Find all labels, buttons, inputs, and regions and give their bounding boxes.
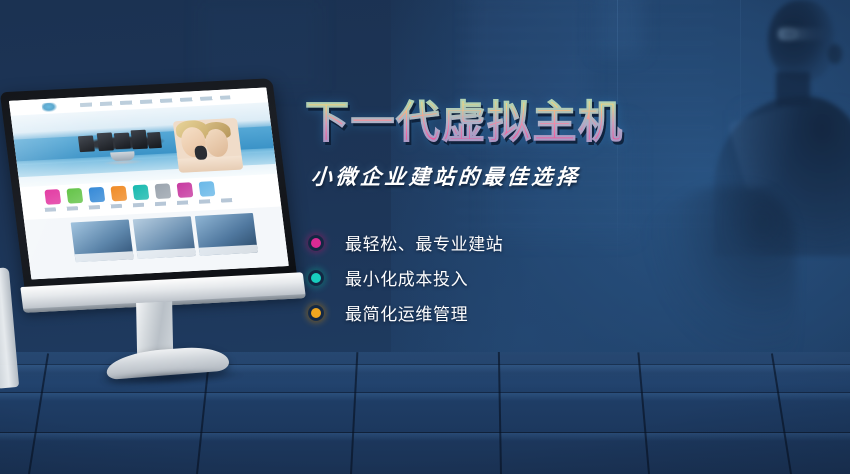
monitor-screen (9, 87, 289, 279)
feature-bullet: 最简化运维管理 (307, 295, 735, 330)
hero-product-image (77, 124, 169, 174)
card-caption-strip (199, 245, 258, 256)
feature-bullet: 最轻松、最专业建站 (307, 225, 735, 260)
feature-bullet-label: 最轻松、最专业建站 (345, 230, 503, 255)
person-ear (828, 44, 842, 64)
imac-monitor (6, 84, 306, 404)
app-icon (199, 181, 216, 197)
website-card-grid (24, 206, 289, 279)
background-blur-panel (596, 0, 642, 56)
floor-seam-highlight (0, 433, 850, 441)
person-device (194, 146, 208, 161)
content-card (195, 213, 258, 256)
content-card (133, 216, 196, 259)
promo-copy: 下一代虚拟主机 小微企业建站的最佳选择 最轻松、最专业建站最小化成本投入最简化运… (305, 98, 735, 330)
page-title: 下一代虚拟主机 (305, 98, 735, 147)
bullet-dot-orange (307, 304, 325, 322)
app-icon (44, 189, 61, 205)
feature-bullet-label: 最简化运维管理 (345, 300, 468, 325)
app-icon (132, 185, 149, 201)
glasses-icon (778, 28, 828, 40)
hosting-promo-banner: 下一代虚拟主机 小微企业建站的最佳选择 最轻松、最专业建站最小化成本投入最简化运… (0, 0, 850, 474)
app-icon (177, 182, 194, 198)
product-device (97, 132, 114, 151)
background-blur-panel (200, 0, 320, 90)
page-subtitle: 小微企业建站的最佳选择 (310, 161, 736, 191)
product-device (78, 135, 95, 152)
product-device (131, 130, 148, 150)
bullet-dot-magenta (307, 234, 325, 252)
card-caption-strip (75, 251, 134, 262)
content-card (71, 219, 134, 262)
bullet-dot-teal (307, 269, 325, 287)
displayed-website (9, 87, 289, 279)
product-base (103, 159, 144, 166)
app-icon (110, 186, 127, 202)
person-body (178, 156, 244, 173)
app-icon (66, 188, 83, 204)
feature-bullet-list: 最轻松、最专业建站最小化成本投入最简化运维管理 (307, 225, 735, 330)
person-head (768, 0, 834, 82)
product-device (114, 133, 131, 150)
person-neck (776, 72, 810, 106)
monitor-bezel (0, 78, 297, 291)
card-caption-strip (137, 248, 196, 259)
site-logo (41, 102, 59, 112)
app-icon (88, 187, 105, 203)
feature-bullet-label: 最小化成本投入 (345, 265, 468, 290)
product-device (147, 132, 162, 149)
feature-bullet: 最小化成本投入 (307, 260, 735, 295)
app-icon (154, 183, 171, 199)
website-hero-banner (11, 102, 277, 187)
hero-people-photo (173, 118, 244, 173)
